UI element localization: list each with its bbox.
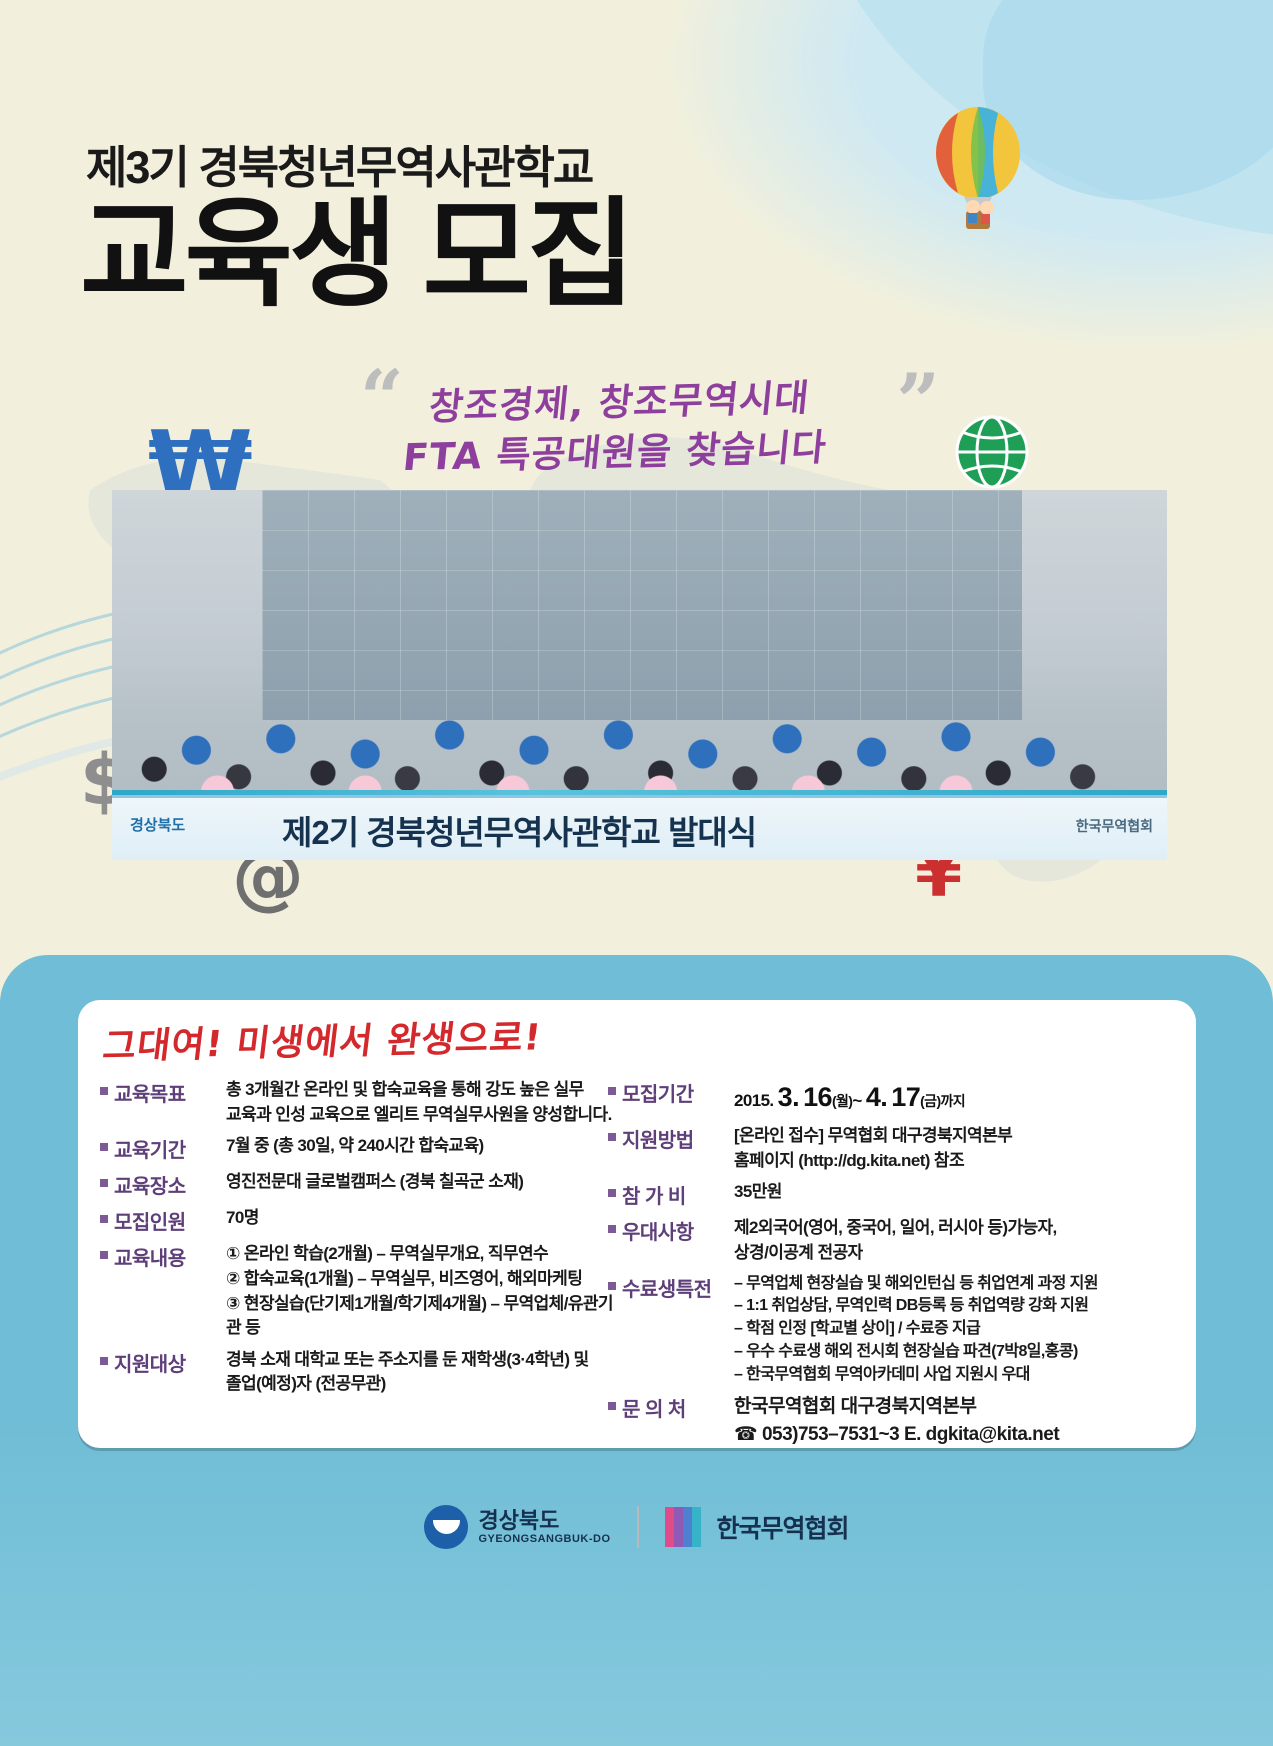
info-row-label: 지원대상	[114, 1348, 218, 1377]
info-row-line: 한국무역협회 대구경북지역본부	[734, 1393, 1168, 1421]
info-row-line: – 1:1 취업상담, 무역인력 DB등록 등 취업역량 강화 지원	[734, 1295, 1168, 1318]
footer-logos: 경상북도 GYEONGSANGBUK-DO 한국무역협회	[0, 1482, 1273, 1572]
info-row-label: 모집인원	[114, 1206, 218, 1235]
info-row-line: 경북 소재 대학교 또는 주소지를 둔 재학생(3·4학년) 및	[226, 1348, 620, 1373]
info-row-value: 한국무역협회 대구경북지역본부☎ 053)753–7531~3 E. dgkit…	[726, 1393, 1168, 1448]
bullet-icon	[608, 1402, 616, 1410]
info-row-value: 35만원	[726, 1180, 1168, 1205]
period-end-month: 4.	[866, 1082, 887, 1112]
bullet-icon	[100, 1143, 108, 1151]
info-row-line: – 학점 인정 [학교별 상이] / 수료증 지급	[734, 1318, 1168, 1341]
info-row-label: 교육장소	[114, 1170, 218, 1199]
bullet-icon	[608, 1189, 616, 1197]
info-row-label: 우대사항	[622, 1216, 726, 1245]
period-end-dow: (금)	[920, 1093, 940, 1109]
gyeongsangbuk-do-name-kr: 경상북도	[478, 1509, 610, 1532]
info-row-line: 상경/이공계 전공자	[734, 1241, 1168, 1266]
info-row-line: ② 합숙교육(1개월) – 무역실무, 비즈영어, 해외마케팅	[226, 1267, 620, 1292]
poster-kicker: 제3기 경북청년무역사관학교	[86, 131, 592, 196]
poster-root: ₩ $ @ € ¥ 제3기 경북청년무역사관학교 교육생 모집 “ ” 창조경제…	[0, 0, 1273, 1746]
kita-logo: 한국무역협회	[665, 1507, 849, 1547]
info-row: 교육목표총 3개월간 온라인 및 합숙교육을 통해 강도 높은 실무교육과 인성…	[100, 1078, 620, 1127]
period-start-dow: (월)	[832, 1093, 852, 1109]
info-row-line: 35만원	[734, 1180, 1168, 1205]
info-row: 지원대상경북 소재 대학교 또는 주소지를 둔 재학생(3·4학년) 및졸업(예…	[100, 1348, 620, 1397]
quote-close-icon: ”	[896, 364, 940, 440]
period-end-day: 17	[891, 1082, 920, 1112]
photo-banner-left-logo: 경상북도	[130, 814, 185, 835]
info-row: 교육장소영진전문대 글로벌캠퍼스 (경북 칠곡군 소재)	[100, 1170, 620, 1199]
info-row: 우대사항제2외국어(영어, 중국어, 일어, 러시아 등)가능자,상경/이공계 …	[608, 1216, 1168, 1265]
photo-banner-right-logo: 한국무역협회	[1076, 816, 1153, 836]
info-row: 문 의 처한국무역협회 대구경북지역본부☎ 053)753–7531~3 E. …	[608, 1393, 1168, 1448]
gyeongsangbuk-do-logo: 경상북도 GYEONGSANGBUK-DO	[424, 1505, 610, 1549]
hot-air-balloon-icon	[918, 105, 1038, 250]
info-row-label: 모집기간	[622, 1078, 726, 1107]
period-tilde: ~	[852, 1091, 861, 1110]
info-row-line: 70명	[226, 1206, 620, 1231]
info-row: 지원방법[온라인 접수] 무역협회 대구경북지역본부홈페이지 (http://d…	[608, 1124, 1168, 1173]
gyeongsangbuk-do-mark-icon	[424, 1505, 468, 1549]
info-row: 모집기간2015. 3. 16(월)~ 4. 17(금)까지	[608, 1078, 1168, 1117]
bullet-icon	[100, 1215, 108, 1223]
gyeongsangbuk-do-name-en: GYEONGSANGBUK-DO	[478, 1533, 610, 1545]
info-row-value: – 무역업체 현장실습 및 해외인턴십 등 취업연계 과정 지원– 1:1 취업…	[726, 1273, 1168, 1387]
info-row-label: 문 의 처	[622, 1393, 726, 1422]
info-row-label: 교육내용	[114, 1242, 218, 1271]
info-row-label: 지원방법	[622, 1124, 726, 1153]
period-start-day: 16	[803, 1082, 832, 1112]
poster-headline: 교육생 모집	[80, 196, 632, 314]
info-column-right: 모집기간2015. 3. 16(월)~ 4. 17(금)까지지원방법[온라인 접…	[608, 1078, 1168, 1455]
info-row: 참 가 비35만원	[608, 1180, 1168, 1209]
info-row-value: 2015. 3. 16(월)~ 4. 17(금)까지	[726, 1078, 1168, 1117]
bullet-icon	[100, 1179, 108, 1187]
kita-mark-icon	[665, 1507, 707, 1547]
info-row: 교육내용① 온라인 학습(2개월) – 무역실무개요, 직무연수② 합숙교육(1…	[100, 1242, 620, 1341]
recruit-period-value: 2015. 3. 16(월)~ 4. 17(금)까지	[734, 1091, 965, 1110]
info-row-line: 홈페이지 (http://dg.kita.net) 참조	[734, 1149, 1168, 1174]
info-row-line: 영진전문대 글로벌캠퍼스 (경북 칠곡군 소재)	[226, 1170, 620, 1195]
info-row-line: – 무역업체 현장실습 및 해외인턴십 등 취업연계 과정 지원	[734, 1273, 1168, 1296]
info-row: 수료생특전– 무역업체 현장실습 및 해외인턴십 등 취업연계 과정 지원– 1…	[608, 1273, 1168, 1387]
globe-icon	[955, 415, 1029, 489]
bullet-icon	[608, 1225, 616, 1233]
info-row-line: 교육과 인성 교육으로 엘리트 무역실무사원을 양성합니다.	[226, 1103, 620, 1128]
info-row: 교육기간7월 중 (총 30일, 약 240시간 합숙교육)	[100, 1134, 620, 1163]
photo-crowd	[112, 602, 1167, 792]
info-row-value: 경북 소재 대학교 또는 주소지를 둔 재학생(3·4학년) 및졸업(예정)자 …	[218, 1348, 620, 1397]
bullet-icon	[608, 1133, 616, 1141]
info-row-line: 7월 중 (총 30일, 약 240시간 합숙교육)	[226, 1134, 620, 1159]
info-row-value: 영진전문대 글로벌캠퍼스 (경북 칠곡군 소재)	[218, 1170, 620, 1195]
bullet-icon	[608, 1087, 616, 1095]
event-photo: 경상북도 제2기 경북청년무역사관학교 발대식 한국무역협회	[112, 490, 1167, 860]
info-row-value: 70명	[218, 1206, 620, 1231]
quote-open-icon: “	[360, 360, 404, 436]
period-suffix: 까지	[941, 1093, 966, 1109]
info-row-value: 7월 중 (총 30일, 약 240시간 합숙교육)	[218, 1134, 620, 1159]
poster-tagline: “ ” 창조경제, 창조무역시대 FTA 특공대원을 찾습니다	[360, 360, 880, 480]
period-year: 2015.	[734, 1091, 778, 1110]
tagline-line-2: FTA 특공대원을 찾습니다	[401, 417, 830, 481]
info-row-label: 교육목표	[114, 1078, 218, 1107]
kita-name-kr: 한국무역협회	[717, 1509, 849, 1545]
info-row-line: ③ 현장실습(단기제1개월/학기제4개월) – 무역업체/유관기관 등	[226, 1292, 620, 1341]
info-row-line: ① 온라인 학습(2개월) – 무역실무개요, 직무연수	[226, 1242, 620, 1267]
info-row-label: 교육기간	[114, 1134, 218, 1163]
info-row-value: ① 온라인 학습(2개월) – 무역실무개요, 직무연수② 합숙교육(1개월) …	[218, 1242, 620, 1341]
info-row-line: – 한국무역협회 무역아카데미 사업 지원시 우대	[734, 1364, 1168, 1387]
bullet-icon	[100, 1087, 108, 1095]
info-row-label: 수료생특전	[622, 1273, 726, 1302]
info-row-line: [온라인 접수] 무역협회 대구경북지역본부	[734, 1124, 1168, 1149]
info-row-label: 참 가 비	[622, 1180, 726, 1209]
bullet-icon	[608, 1282, 616, 1290]
info-row-value: [온라인 접수] 무역협회 대구경북지역본부홈페이지 (http://dg.ki…	[726, 1124, 1168, 1173]
info-row-line: 제2외국어(영어, 중국어, 일어, 러시아 등)가능자,	[734, 1216, 1168, 1241]
bullet-icon	[100, 1357, 108, 1365]
info-card-title: 그대여! 미생에서 완생으로!	[100, 1008, 545, 1069]
footer-divider	[637, 1506, 639, 1548]
info-row: 모집인원70명	[100, 1206, 620, 1235]
info-row-value: 총 3개월간 온라인 및 합숙교육을 통해 강도 높은 실무교육과 인성 교육으…	[218, 1078, 620, 1127]
photo-banner: 경상북도 제2기 경북청년무역사관학교 발대식 한국무역협회	[112, 795, 1167, 860]
bullet-icon	[100, 1251, 108, 1259]
info-row-line: 졸업(예정)자 (전공무관)	[226, 1372, 620, 1397]
info-row-line: – 우수 수료생 해외 전시회 현장실습 파견(7박8일,홍콩)	[734, 1341, 1168, 1364]
photo-banner-title: 제2기 경북청년무역사관학교 발대식	[282, 806, 756, 854]
info-column-left: 교육목표총 3개월간 온라인 및 합숙교육을 통해 강도 높은 실무교육과 인성…	[100, 1078, 620, 1404]
info-row-value: 제2외국어(영어, 중국어, 일어, 러시아 등)가능자,상경/이공계 전공자	[726, 1216, 1168, 1265]
period-start-month: 3.	[778, 1082, 799, 1112]
info-row-line: 총 3개월간 온라인 및 합숙교육을 통해 강도 높은 실무	[226, 1078, 620, 1103]
info-row-line: ☎ 053)753–7531~3 E. dgkita@kita.net	[734, 1421, 1168, 1449]
